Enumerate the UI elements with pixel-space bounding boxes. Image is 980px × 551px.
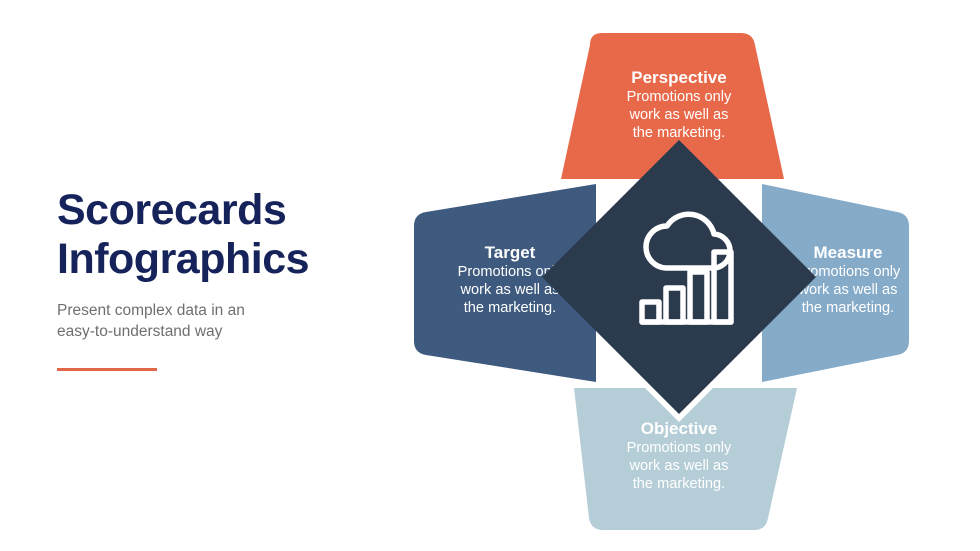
panel-measure-line-2: work as well as	[798, 282, 898, 298]
panel-objective-line-1: Promotions only	[627, 440, 732, 456]
panel-measure-title: Measure	[814, 243, 883, 262]
panel-target-line-3: the marketing.	[464, 300, 556, 316]
title-block: Scorecards Infographics Present complex …	[57, 186, 387, 371]
panel-measure-line-3: the marketing.	[802, 300, 894, 316]
panel-target-line-2: work as well as	[460, 282, 560, 298]
panel-perspective-line-1: Promotions only	[627, 89, 732, 105]
panel-objective-line-3: the marketing.	[633, 476, 725, 492]
page-title: Scorecards Infographics	[57, 186, 387, 283]
panel-perspective-line-3: the marketing.	[633, 125, 725, 141]
panel-objective[interactable]: Objective Promotions only work as well a…	[574, 388, 797, 530]
page-subtitle: Present complex data in an easy-to-under…	[57, 301, 272, 342]
panel-objective-line-2: work as well as	[629, 458, 729, 474]
panel-perspective-line-2: work as well as	[629, 107, 729, 123]
panel-objective-title: Objective	[641, 419, 718, 438]
slide-canvas: Scorecards Infographics Present complex …	[0, 0, 980, 551]
scorecard-diagram: Perspective Promotions only work as well…	[400, 0, 980, 551]
panel-perspective-title: Perspective	[631, 68, 726, 87]
accent-rule-divider	[57, 368, 157, 371]
panel-target-title: Target	[485, 243, 536, 262]
